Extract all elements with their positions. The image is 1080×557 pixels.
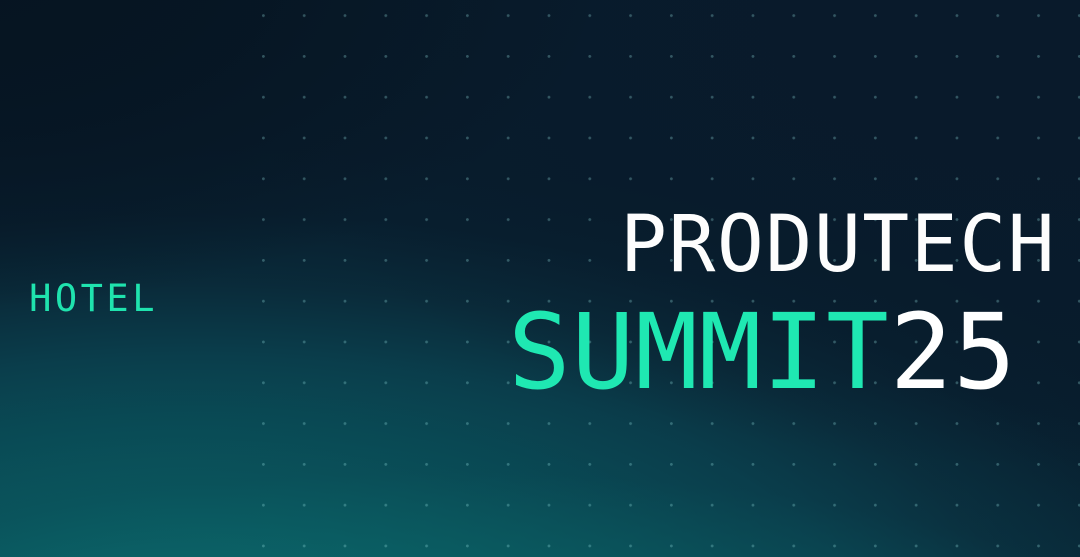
summit-title-line: SUMMIT25: [508, 300, 1056, 404]
event-venue-text: RTO HOTEL: [0, 280, 158, 317]
summit-word-text: SUMMIT: [508, 291, 890, 413]
event-title-lockup: PRODUTECH SUMMIT25: [620, 206, 1056, 404]
event-details-block: 25 RTO HOTEL: [0, 214, 158, 317]
event-date-text: 25: [0, 214, 158, 250]
page-title: PRODUTECH: [620, 206, 1056, 284]
summit-year-text: 25: [890, 291, 1017, 413]
event-banner: 25 RTO HOTEL PRODUTECH SUMMIT25: [0, 0, 1080, 557]
